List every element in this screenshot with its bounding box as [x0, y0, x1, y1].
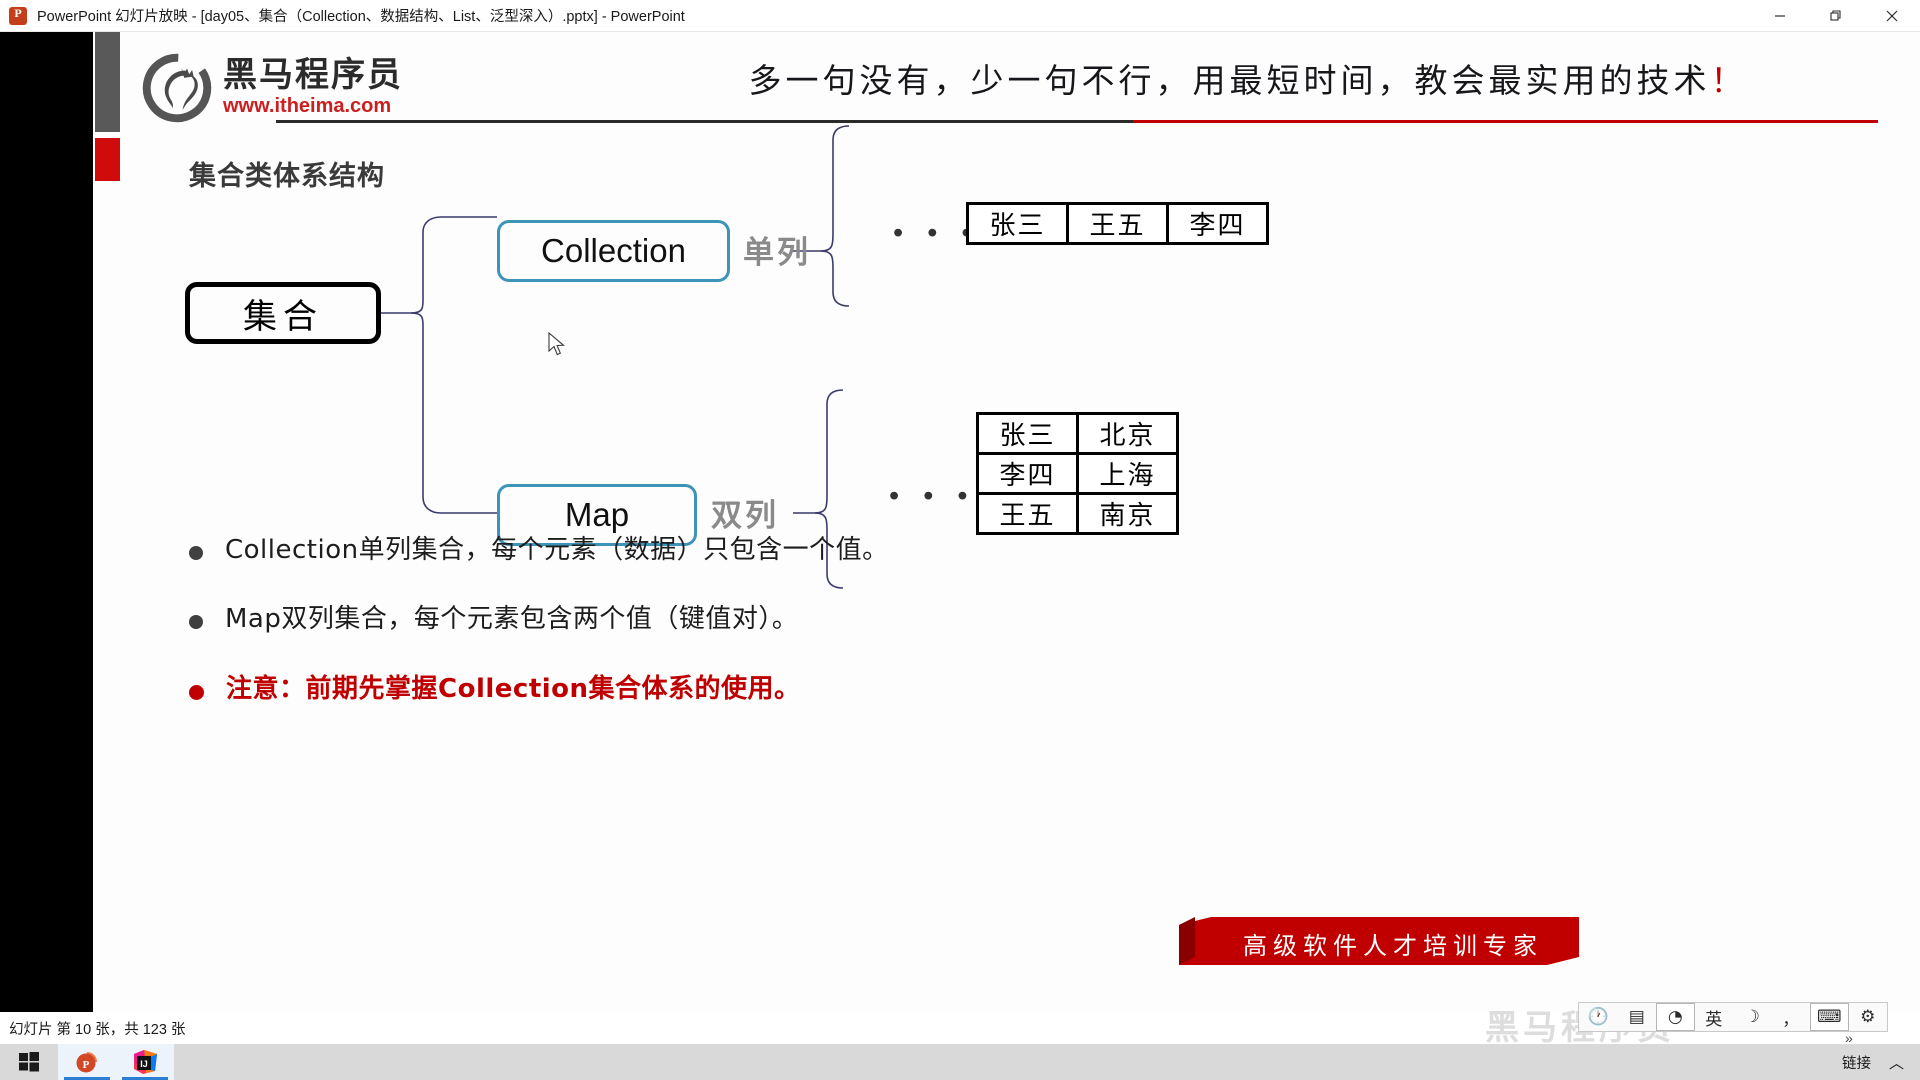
- slide-canvas[interactable]: 黑马程序员 www.itheima.com 多一句没有，少一句不行，用最短时间，…: [93, 32, 1920, 1012]
- minimize-button[interactable]: [1752, 0, 1808, 32]
- single-table-cell: 李四: [1168, 204, 1268, 244]
- ime-language-toolbar[interactable]: 🕐▤◔英☽，⌨⚙: [1578, 1002, 1888, 1032]
- bullet-dot-icon: [189, 685, 204, 700]
- start-button[interactable]: [0, 1044, 58, 1080]
- bullet-text: Collection单列集合，每个元素（数据）只包含一个值。: [225, 532, 889, 568]
- ime-moon-icon[interactable]: ☽: [1733, 1003, 1771, 1031]
- bullet-text: Map双列集合，每个元素包含两个值（键值对）。: [225, 601, 798, 637]
- double-column-example-table: 张三北京李四上海王五南京: [976, 412, 1179, 535]
- double-table-cell: 张三: [978, 414, 1078, 454]
- bullet-item-warning: 注意：前期先掌握Collection集合体系的使用。: [189, 671, 1789, 707]
- single-table-cell: 张三: [968, 204, 1068, 244]
- powerpoint-icon: P: [74, 1049, 100, 1075]
- tray-expand-chevron-icon[interactable]: ︿: [1889, 1052, 1904, 1073]
- diagram-node-root-label: 集合: [243, 289, 323, 338]
- system-tray: 链接 ︿: [1842, 1052, 1920, 1073]
- single-table-cell: 王五: [1068, 204, 1168, 244]
- svg-text:P: P: [83, 1059, 90, 1071]
- powerpoint-app-icon: [9, 7, 27, 25]
- double-table-cell: 上海: [1078, 454, 1178, 494]
- left-rail-red: [95, 138, 120, 181]
- double-table-cell: 南京: [1078, 494, 1178, 534]
- left-rail-gray: [95, 32, 120, 132]
- double-table-cell: 李四: [978, 454, 1078, 494]
- diagram-node-root[interactable]: 集合: [185, 282, 381, 344]
- diagram-node-map-label: Map: [565, 496, 629, 534]
- ime-sogou-icon[interactable]: ◔: [1656, 1003, 1695, 1031]
- double-table-row: 张三北京: [978, 414, 1178, 454]
- ime-menu-icon[interactable]: ▤: [1617, 1003, 1655, 1031]
- single-column-example-table: 张三王五李四: [966, 202, 1269, 245]
- window-controls: [1752, 0, 1920, 32]
- ellipsis-bottom: • • •: [889, 480, 976, 513]
- bullet-dot-icon: [189, 615, 203, 629]
- ime-overflow-chevron[interactable]: »: [1845, 1030, 1853, 1046]
- bullet-item: Map双列集合，每个元素包含两个值（键值对）。: [189, 601, 1789, 637]
- window-title-bar: PowerPoint 幻灯片放映 - [day05、集合（Collection、…: [0, 0, 1920, 32]
- diagram-node-collection-label: Collection: [541, 232, 686, 270]
- double-column-label: 双列: [711, 490, 779, 535]
- bullet-item: Collection单列集合，每个元素（数据）只包含一个值。: [189, 532, 1789, 568]
- ime-language-mode[interactable]: 英: [1695, 1003, 1733, 1031]
- taskbar-item-intellij-idea[interactable]: IJ: [116, 1044, 174, 1080]
- ime-clock-icon[interactable]: 🕐: [1579, 1003, 1617, 1031]
- taskbar-item-powerpoint[interactable]: P: [58, 1044, 116, 1080]
- windows-logo-icon: [19, 1052, 39, 1072]
- window-title: PowerPoint 幻灯片放映 - [day05、集合（Collection、…: [37, 5, 685, 26]
- diagram-node-collection[interactable]: Collection: [497, 220, 730, 282]
- svg-text:IJ: IJ: [140, 1059, 148, 1069]
- single-table-row: 张三王五李四: [968, 204, 1268, 244]
- slide-counter: 幻灯片 第 10 张，共 123 张: [9, 1018, 185, 1039]
- bullet-list: Collection单列集合，每个元素（数据）只包含一个值。Map双列集合，每个…: [189, 532, 1789, 740]
- double-table-cell: 王五: [978, 494, 1078, 534]
- double-table-cell: 北京: [1078, 414, 1178, 454]
- tray-link-label[interactable]: 链接: [1842, 1052, 1871, 1073]
- bullet-dot-icon: [189, 546, 203, 560]
- mouse-cursor: [548, 332, 568, 358]
- ime-settings-icon[interactable]: ⚙: [1849, 1003, 1887, 1031]
- intellij-idea-icon: IJ: [132, 1049, 158, 1075]
- single-column-label: 单列: [743, 227, 811, 272]
- bullet-text: 注意：前期先掌握Collection集合体系的使用。: [226, 671, 801, 707]
- double-table-row: 李四上海: [978, 454, 1178, 494]
- bottom-ribbon-label: 高级软件人才培训专家: [1243, 926, 1543, 961]
- close-button[interactable]: [1864, 0, 1920, 32]
- restore-button[interactable]: [1808, 0, 1864, 32]
- windows-taskbar: P IJ 链接 ︿: [0, 1044, 1920, 1080]
- ime-keyboard-icon[interactable]: ⌨: [1810, 1003, 1849, 1031]
- slideshow-desktop: 黑马程序员 www.itheima.com 多一句没有，少一句不行，用最短时间，…: [0, 32, 1920, 1048]
- ime-comma-icon[interactable]: ，: [1772, 1003, 1810, 1031]
- double-table-row: 王五南京: [978, 494, 1178, 534]
